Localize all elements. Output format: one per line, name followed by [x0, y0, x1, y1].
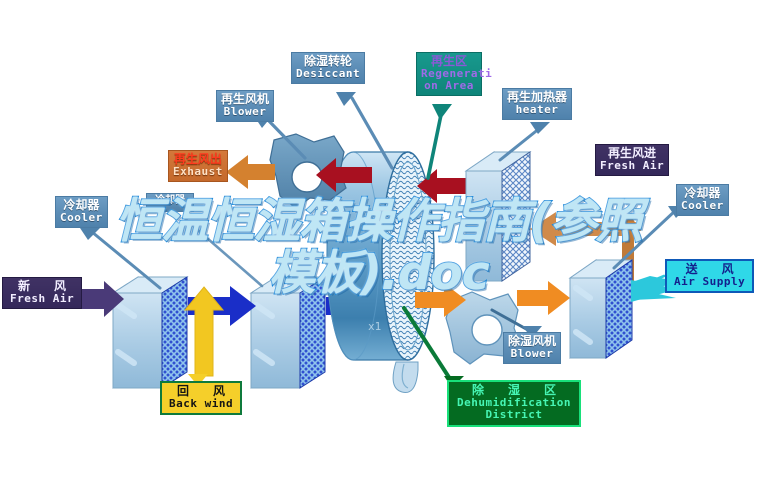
label-regeneration-blower[interactable]: 再生风机 Blower	[216, 90, 274, 122]
label-cn: 除湿风机	[508, 335, 556, 348]
label-en-line2: on Area	[421, 80, 477, 92]
svg-text:x1: x1	[368, 320, 381, 333]
label-cooler-left[interactable]: 冷却器 Cooler	[55, 196, 108, 228]
label-cn: 冷却器	[681, 187, 724, 200]
label-en: Back wind	[169, 398, 233, 410]
label-en: Exhaust	[173, 166, 223, 178]
schematic-artwork: x1	[0, 0, 757, 488]
label-en: Blower	[221, 106, 269, 118]
drain-pan	[393, 362, 418, 393]
label-exhaust[interactable]: 再生风出 Exhaust	[168, 150, 228, 182]
label-en: Blower	[508, 348, 556, 360]
label-en: Air Supply	[674, 276, 745, 288]
label-en-line2: District	[457, 409, 571, 421]
label-cn: 再生风机	[221, 93, 269, 106]
label-cooler-right[interactable]: 冷却器 Cooler	[676, 184, 729, 216]
label-cn: 再生风进	[600, 147, 664, 160]
heater-coil	[466, 152, 530, 281]
label-en: Fresh Air	[600, 160, 664, 172]
label-cn: 再生区	[421, 55, 477, 68]
label-regeneration-area[interactable]: 再生区 Regenerati on Area	[416, 52, 482, 96]
label-regeneration-heater[interactable]: 再生加热器 heater	[502, 88, 572, 120]
label-cn: 再生加热器	[507, 91, 567, 104]
dry-air-arrow-2	[517, 281, 570, 315]
label-back-wind[interactable]: 回 风 Back wind	[160, 381, 242, 415]
label-cn: 新 风	[10, 280, 74, 293]
cooler-coil-2	[251, 277, 325, 388]
label-cn: 送 风	[674, 263, 745, 276]
label-cn: 回 风	[169, 385, 233, 398]
label-cn: 冷却器	[155, 196, 185, 207]
label-cooler-mid[interactable]: 冷却器	[146, 193, 194, 212]
label-en: Fresh Air	[10, 293, 74, 305]
label-en: Cooler	[60, 212, 103, 224]
label-fresh-air-in[interactable]: 新 风 Fresh Air	[2, 277, 82, 309]
label-dehumidification-district[interactable]: 除 湿 区 Dehumidification District	[447, 380, 581, 427]
exhaust-arrow	[226, 155, 275, 189]
label-cn: 除 湿 区	[457, 384, 571, 397]
diagram-canvas: x1	[0, 0, 757, 488]
label-cn: 再生风出	[173, 153, 223, 166]
label-dehumidification-blower[interactable]: 除湿风机 Blower	[503, 332, 561, 364]
label-air-supply[interactable]: 送 风 Air Supply	[665, 259, 754, 293]
cooler-coil-1	[113, 277, 187, 388]
label-regeneration-air-in[interactable]: 再生风进 Fresh Air	[595, 144, 669, 176]
label-en: Cooler	[681, 200, 724, 212]
label-cn: 除湿转轮	[296, 55, 360, 68]
cooler-coil-3	[570, 260, 632, 358]
label-en: heater	[507, 104, 567, 116]
label-en: Desiccant	[296, 68, 360, 80]
label-desiccant-wheel[interactable]: 除湿转轮 Desiccant	[291, 52, 365, 84]
label-cn: 冷却器	[60, 199, 103, 212]
